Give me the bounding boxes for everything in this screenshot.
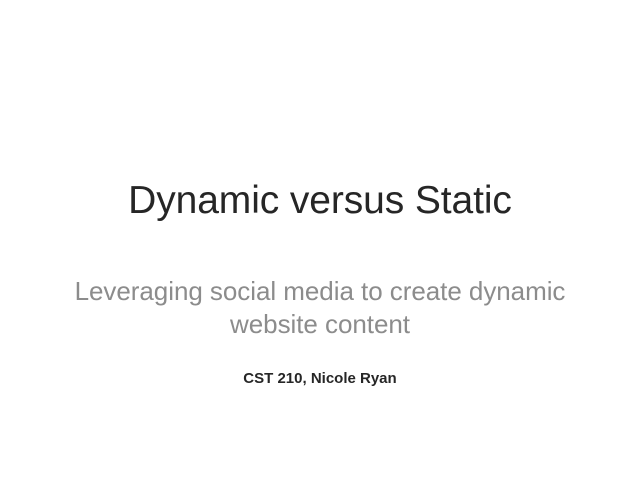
slide-subtitle: Leveraging social media to create dynami… [70, 275, 570, 341]
slide-attribution: CST 210, Nicole Ryan [0, 369, 640, 389]
slide-title-container: Dynamic versus Static [0, 178, 640, 224]
slide-attribution-container: CST 210, Nicole Ryan [0, 369, 640, 389]
presentation-slide: Dynamic versus Static Leveraging social … [0, 0, 640, 480]
slide-subtitle-container: Leveraging social media to create dynami… [70, 275, 570, 341]
page-title: Dynamic versus Static [0, 178, 640, 224]
